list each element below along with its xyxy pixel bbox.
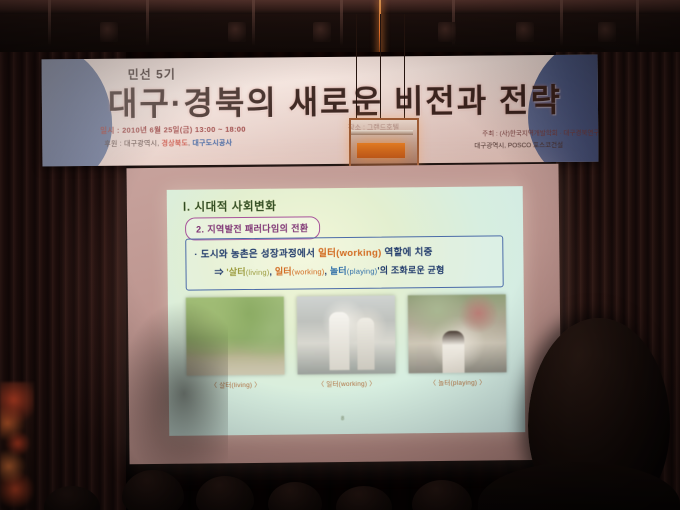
conference-photo-scene: 민선 5기 대구·경북의 새로운 비전과 전략 일시 : 2010년 6월 25… (0, 0, 680, 510)
rigging-bar (636, 0, 639, 46)
stage-light-fixture (516, 22, 534, 42)
hanging-stage-light-bar (351, 130, 413, 135)
slide-photo-row (186, 294, 507, 375)
bullet-2-living: '살터 (226, 267, 245, 277)
fixture-wire (380, 14, 381, 120)
audience-shadow-on-screen (118, 300, 228, 470)
banner-supporters: 후원 : 대구광역시, 경상북도, 대구도시공사 (104, 138, 232, 149)
banner-supporters-2-text: 대구광역시, POSCO 포스코건설 (474, 142, 563, 150)
rigging-bar (48, 0, 51, 46)
hanging-stage-lamp (357, 143, 405, 158)
rigging-bar (560, 0, 563, 46)
stage-light-fixture (313, 22, 331, 42)
banner-datetime: 일시 : 2010년 6월 25일(금) 13:00 ~ 18:00 (100, 124, 246, 136)
rigging-bar (340, 0, 343, 46)
bullet-1-post: 역할에 치중 (382, 247, 433, 259)
slide-body-box: · 도시와 농촌은 성장과정에서 일터(working) 역할에 치중 ⇒ '살… (185, 235, 504, 290)
banner-support-label: 후원 : (104, 141, 122, 148)
slide-page-number: 8 (341, 416, 344, 422)
rigging-bar (146, 0, 149, 46)
banner-sponsor-dgcorp: 대구도시공사 (192, 140, 232, 147)
banner-sponsor-daegu: 대구광역시 (124, 140, 157, 147)
slide-bullet-2: ⇒ '살터(living), 일터(working), 놀터(playing)'… (214, 263, 444, 278)
bullet-1-highlight: 일터(working) (318, 248, 382, 260)
stage-light-fixture (598, 22, 616, 42)
banner-title: 대구·경북의 새로운 비전과 전략 (108, 75, 548, 125)
slide-photo-playing (408, 294, 507, 373)
slide-caption-working: 〈 일터(working) 〉 (298, 377, 396, 388)
bullet-2-post: '의 조화로운 균형 (377, 265, 444, 276)
bullet-2-living-en: (living) (246, 268, 270, 277)
slide-photo-working (297, 295, 396, 374)
bullet-2-working: 일터 (275, 267, 292, 277)
slide-caption-playing: 〈 놀터(playing) 〉 (409, 376, 507, 387)
flower-arrangement (0, 382, 34, 510)
slide-heading: Ⅰ. 시대적 사회변화 (183, 198, 277, 215)
stage-light-fixture (438, 22, 456, 42)
bullet-2-working-en: (working) (292, 267, 325, 276)
slide-bullet-1: · 도시와 농촌은 성장과정에서 일터(working) 역할에 치중 (194, 244, 432, 260)
rigging-bar (252, 0, 255, 46)
banner-supporters-2: 대구광역시, POSCO 포스코건설 (474, 139, 563, 150)
bullet-2-playing-en: (playing) (347, 267, 378, 276)
banner-sponsor-gyeongbuk: 경상북도 (161, 140, 188, 147)
bullet-2-arrow: ⇒ (215, 267, 227, 277)
fixture-wire (404, 14, 405, 120)
stage-light-fixture (100, 22, 118, 42)
bullet-1-pre: · 도시와 농촌은 성장과정에서 (194, 248, 318, 260)
bullet-2-playing: 놀터 (330, 266, 347, 276)
slide-subheading: 2. 지역발전 패러다임의 전환 (196, 223, 309, 234)
fixture-wire (356, 14, 357, 120)
event-banner: 민선 5기 대구·경북의 새로운 비전과 전략 일시 : 2010년 6월 25… (42, 55, 599, 167)
banner-left-wedge (42, 55, 113, 167)
banner-host: 주최 : (사)한국지역개발학회 · 대구경북연구원 (482, 127, 598, 138)
stage-light-fixture (228, 22, 246, 42)
